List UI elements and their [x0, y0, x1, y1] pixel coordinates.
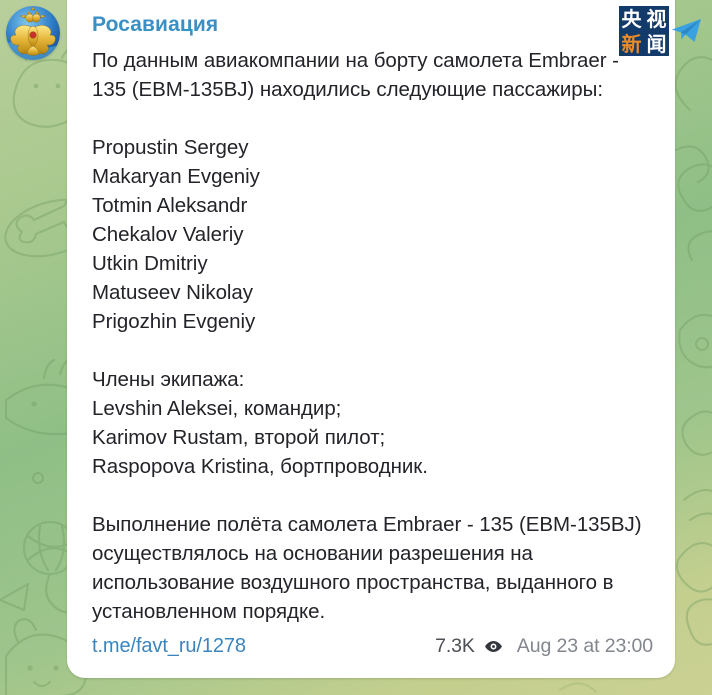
- view-count: 7.3K: [435, 635, 475, 658]
- cctv-char-xin: 新: [622, 34, 642, 54]
- message-footer: t.me/favt_ru/1278 7.3K Aug 23 at 23:00: [92, 633, 653, 659]
- timestamp: Aug 23 at 23:00: [517, 635, 653, 658]
- avatar[interactable]: [6, 6, 60, 60]
- cctv-char-shi: 视: [647, 9, 667, 29]
- rosaviatsia-emblem-icon: [6, 6, 60, 60]
- cctv-char-wen: 闻: [647, 34, 667, 54]
- watermark: 央 视 新 闻: [619, 6, 704, 56]
- cctv-news-logo: 央 视 新 闻: [619, 6, 669, 56]
- post-permalink[interactable]: t.me/favt_ru/1278: [92, 635, 246, 658]
- message-bubble: Росавиация По данным авиакомпании на бор…: [67, 0, 675, 678]
- footer-meta: 7.3K Aug 23 at 23:00: [435, 635, 653, 658]
- channel-title[interactable]: Росавиация: [92, 14, 218, 35]
- telegram-plane-icon: [670, 14, 704, 48]
- cctv-char-yang: 央: [622, 9, 642, 29]
- message-text: По данным авиакомпании на борту самолета…: [92, 46, 658, 626]
- eye-icon: [484, 637, 503, 656]
